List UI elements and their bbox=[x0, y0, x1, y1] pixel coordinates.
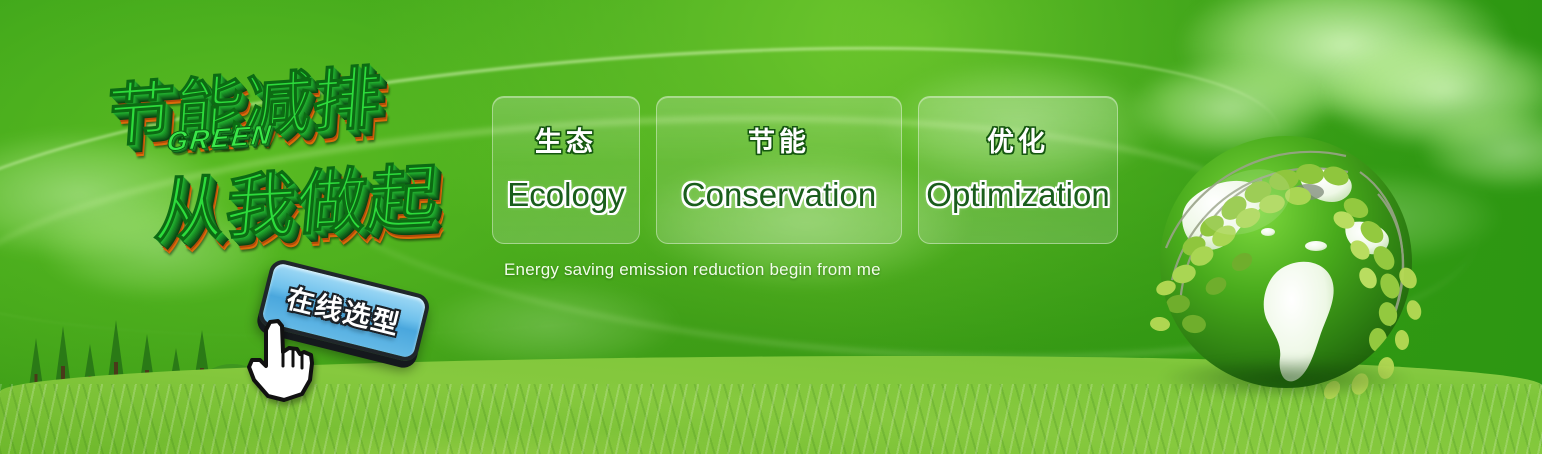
feature-card-label-en: Optimization bbox=[926, 178, 1109, 211]
cta-button-label: 在线选型 bbox=[284, 283, 404, 340]
feature-card-list: 生态 Ecology 节能 Conservation 优化 Optimizati… bbox=[492, 96, 1118, 244]
green-earth-globe-icon bbox=[1150, 128, 1422, 400]
feature-card-label-cn: 生态 bbox=[535, 129, 597, 156]
feature-card-label-cn: 节能 bbox=[748, 129, 810, 156]
eco-promo-banner: 节能减排 GREEN 从我做起 在线选型 生态 Ecology 节能 Conse… bbox=[0, 0, 1542, 454]
feature-card-label-en: Ecology bbox=[507, 178, 624, 211]
feature-card-label-cn: 优化 bbox=[987, 129, 1049, 156]
feature-card-optimization[interactable]: 优化 Optimization bbox=[918, 96, 1118, 244]
tagline-text: Energy saving emission reduction begin f… bbox=[504, 260, 881, 280]
feature-card-conservation[interactable]: 节能 Conservation bbox=[656, 96, 902, 244]
globe-shadow bbox=[1158, 356, 1414, 400]
feature-card-ecology[interactable]: 生态 Ecology bbox=[492, 96, 640, 244]
feature-card-label-en: Conservation bbox=[682, 178, 876, 211]
